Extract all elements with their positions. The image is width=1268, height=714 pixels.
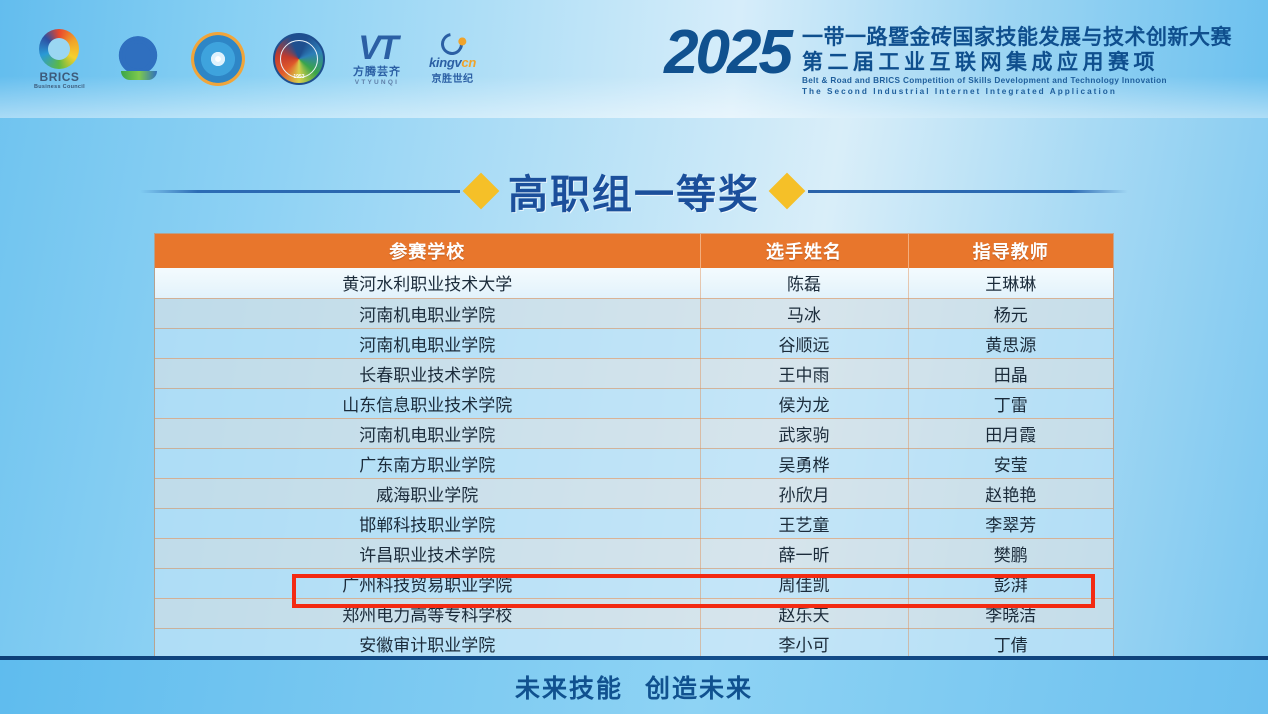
cell-school: 许昌职业技术学院 [155, 538, 700, 568]
brics-ring-icon [39, 29, 79, 69]
page-title: 高职组一等奖 [502, 162, 766, 220]
cell-student: 薛一昕 [700, 538, 908, 568]
table-row: 河南机电职业学院武家驹田月霞 [155, 418, 1113, 448]
cell-school: 河南机电职业学院 [155, 328, 700, 358]
table-row: 黄河水利职业技术大学陈磊王琳琳 [155, 268, 1113, 298]
brics-business-council-logo: BRICS Business Council [34, 29, 85, 90]
table-row: 安徽审计职业学院李小可丁倩 [155, 628, 1113, 658]
footer-slogan-part-1: 未来技能 [515, 675, 623, 703]
table-row: 长春职业技术学院王中雨田晶 [155, 358, 1113, 388]
table-row: 山东信息职业技术学院侯为龙丁雷 [155, 388, 1113, 418]
cell-student: 吴勇桦 [700, 448, 908, 478]
title-english-line-1: Belt & Road and BRICS Competition of Ski… [802, 75, 1232, 86]
cell-school: 广东南方职业学院 [155, 448, 700, 478]
brics-logo-text: BRICS [40, 71, 80, 83]
title-rule-right [808, 190, 1128, 193]
cell-teacher: 王琳琳 [908, 268, 1113, 298]
section-title-bar: 高职组一等奖 [0, 160, 1268, 222]
table-row: 许昌职业技术学院薛一昕樊鹏 [155, 538, 1113, 568]
table-row: 邯郸科技职业学院王艺童李翠芳 [155, 508, 1113, 538]
cell-teacher: 李翠芳 [908, 508, 1113, 538]
cell-student: 马冰 [700, 298, 908, 328]
cell-teacher: 丁倩 [908, 628, 1113, 658]
cell-student: 侯为龙 [700, 388, 908, 418]
column-header-school: 参赛学校 [155, 234, 700, 268]
vt-monogram-icon: VT [358, 33, 395, 63]
kingvcn-en-a: kingv [429, 55, 461, 70]
cell-school: 山东信息职业技术学院 [155, 388, 700, 418]
cell-student: 王中雨 [700, 358, 908, 388]
table-row: 威海职业学院孙欣月赵艳艳 [155, 478, 1113, 508]
cell-student: 周佳凯 [700, 568, 908, 598]
diamond-left-icon [463, 173, 500, 210]
column-header-teacher: 指导教师 [908, 234, 1113, 268]
table-header-row: 参赛学校 选手姓名 指导教师 [155, 234, 1113, 268]
cell-teacher: 赵艳艳 [908, 478, 1113, 508]
kingvcn-logo: kingvcn 京胜世纪 [429, 33, 476, 85]
title-chinese-line-1: 一带一路暨金砖国家技能发展与技术创新大赛 [802, 25, 1232, 50]
cell-teacher: 彭湃 [908, 568, 1113, 598]
title-rule-left [140, 190, 460, 193]
title-english-line-2: The Second Industrial Internet Integrate… [802, 86, 1232, 97]
year-label: 2025 [664, 22, 790, 84]
title-chinese-line-2: 第二届工业互联网集成应用赛项 [802, 50, 1232, 75]
cell-school: 郑州电力高等专科学校 [155, 598, 700, 628]
sco-emblem-logo [113, 36, 163, 82]
kingvcn-chinese-name: 京胜世纪 [431, 70, 473, 85]
cell-school: 长春职业技术学院 [155, 358, 700, 388]
table-row: 河南机电职业学院马冰杨元 [155, 298, 1113, 328]
sco-emblem-icon [113, 36, 163, 82]
cell-student: 武家驹 [700, 418, 908, 448]
cell-teacher: 丁雷 [908, 388, 1113, 418]
henan-college-emblem-logo [273, 33, 325, 85]
title-lines: 一带一路暨金砖国家技能发展与技术创新大赛 第二届工业互联网集成应用赛项 Belt… [802, 22, 1232, 97]
vtyunqi-english-name: VTYUNQI [355, 79, 399, 86]
cell-student: 赵乐天 [700, 598, 908, 628]
brics-logo-subtext: Business Council [34, 84, 85, 90]
results-table: 参赛学校 选手姓名 指导教师 黄河水利职业技术大学陈磊王琳琳河南机电职业学院马冰… [155, 234, 1113, 659]
cell-school: 邯郸科技职业学院 [155, 508, 700, 538]
cell-school: 安徽审计职业学院 [155, 628, 700, 658]
cell-teacher: 黄思源 [908, 328, 1113, 358]
vtyunqi-chinese-name: 方腾芸齐 [353, 63, 401, 79]
cell-student: 陈磊 [700, 268, 908, 298]
cell-student: 李小可 [700, 628, 908, 658]
table-row-highlighted: 郑州电力高等专科学校赵乐天李晓洁 [155, 598, 1113, 628]
cell-school: 黄河水利职业技术大学 [155, 268, 700, 298]
college-emblem-icon [273, 33, 325, 85]
footer-slogan: 未来技能创造未来 [515, 669, 753, 705]
competition-title-block: 2025 一带一路暨金砖国家技能发展与技术创新大赛 第二届工业互联网集成应用赛项… [664, 22, 1232, 97]
cell-school: 广州科技贸易职业学院 [155, 568, 700, 598]
table-row: 河南机电职业学院谷顺远黄思源 [155, 328, 1113, 358]
cell-school: 河南机电职业学院 [155, 418, 700, 448]
vtyunqi-logo: VT 方腾芸齐 VTYUNQI [353, 33, 401, 86]
cell-school: 威海职业学院 [155, 478, 700, 508]
footer-banner: 未来技能创造未来 [0, 660, 1268, 714]
diamond-right-icon [769, 173, 806, 210]
header-banner: BRICS Business Council VT 方腾芸齐 VTYUNQI k… [0, 0, 1268, 118]
cell-teacher: 田晶 [908, 358, 1113, 388]
cell-student: 王艺童 [700, 508, 908, 538]
cell-teacher: 李晓洁 [908, 598, 1113, 628]
kingvcn-english-name: kingvcn [429, 55, 476, 70]
star-emblem-logo [191, 32, 245, 86]
table-header: 参赛学校 选手姓名 指导教师 [155, 234, 1113, 268]
sponsor-logo-strip: BRICS Business Council VT 方腾芸齐 VTYUNQI k… [34, 26, 476, 92]
cell-school: 河南机电职业学院 [155, 298, 700, 328]
table-body: 黄河水利职业技术大学陈磊王琳琳河南机电职业学院马冰杨元河南机电职业学院谷顺远黄思… [155, 268, 1113, 658]
table-row: 广州科技贸易职业学院周佳凯彭湃 [155, 568, 1113, 598]
cell-teacher: 安莹 [908, 448, 1113, 478]
cell-teacher: 田月霞 [908, 418, 1113, 448]
cell-teacher: 杨元 [908, 298, 1113, 328]
cell-student: 孙欣月 [700, 478, 908, 508]
cell-teacher: 樊鹏 [908, 538, 1113, 568]
column-header-student: 选手姓名 [700, 234, 908, 268]
footer-slogan-part-2: 创造未来 [645, 675, 753, 703]
kingvcn-en-b: cn [461, 55, 476, 70]
table-row: 广东南方职业学院吴勇桦安莹 [155, 448, 1113, 478]
star-emblem-icon [191, 32, 245, 86]
cell-student: 谷顺远 [700, 328, 908, 358]
